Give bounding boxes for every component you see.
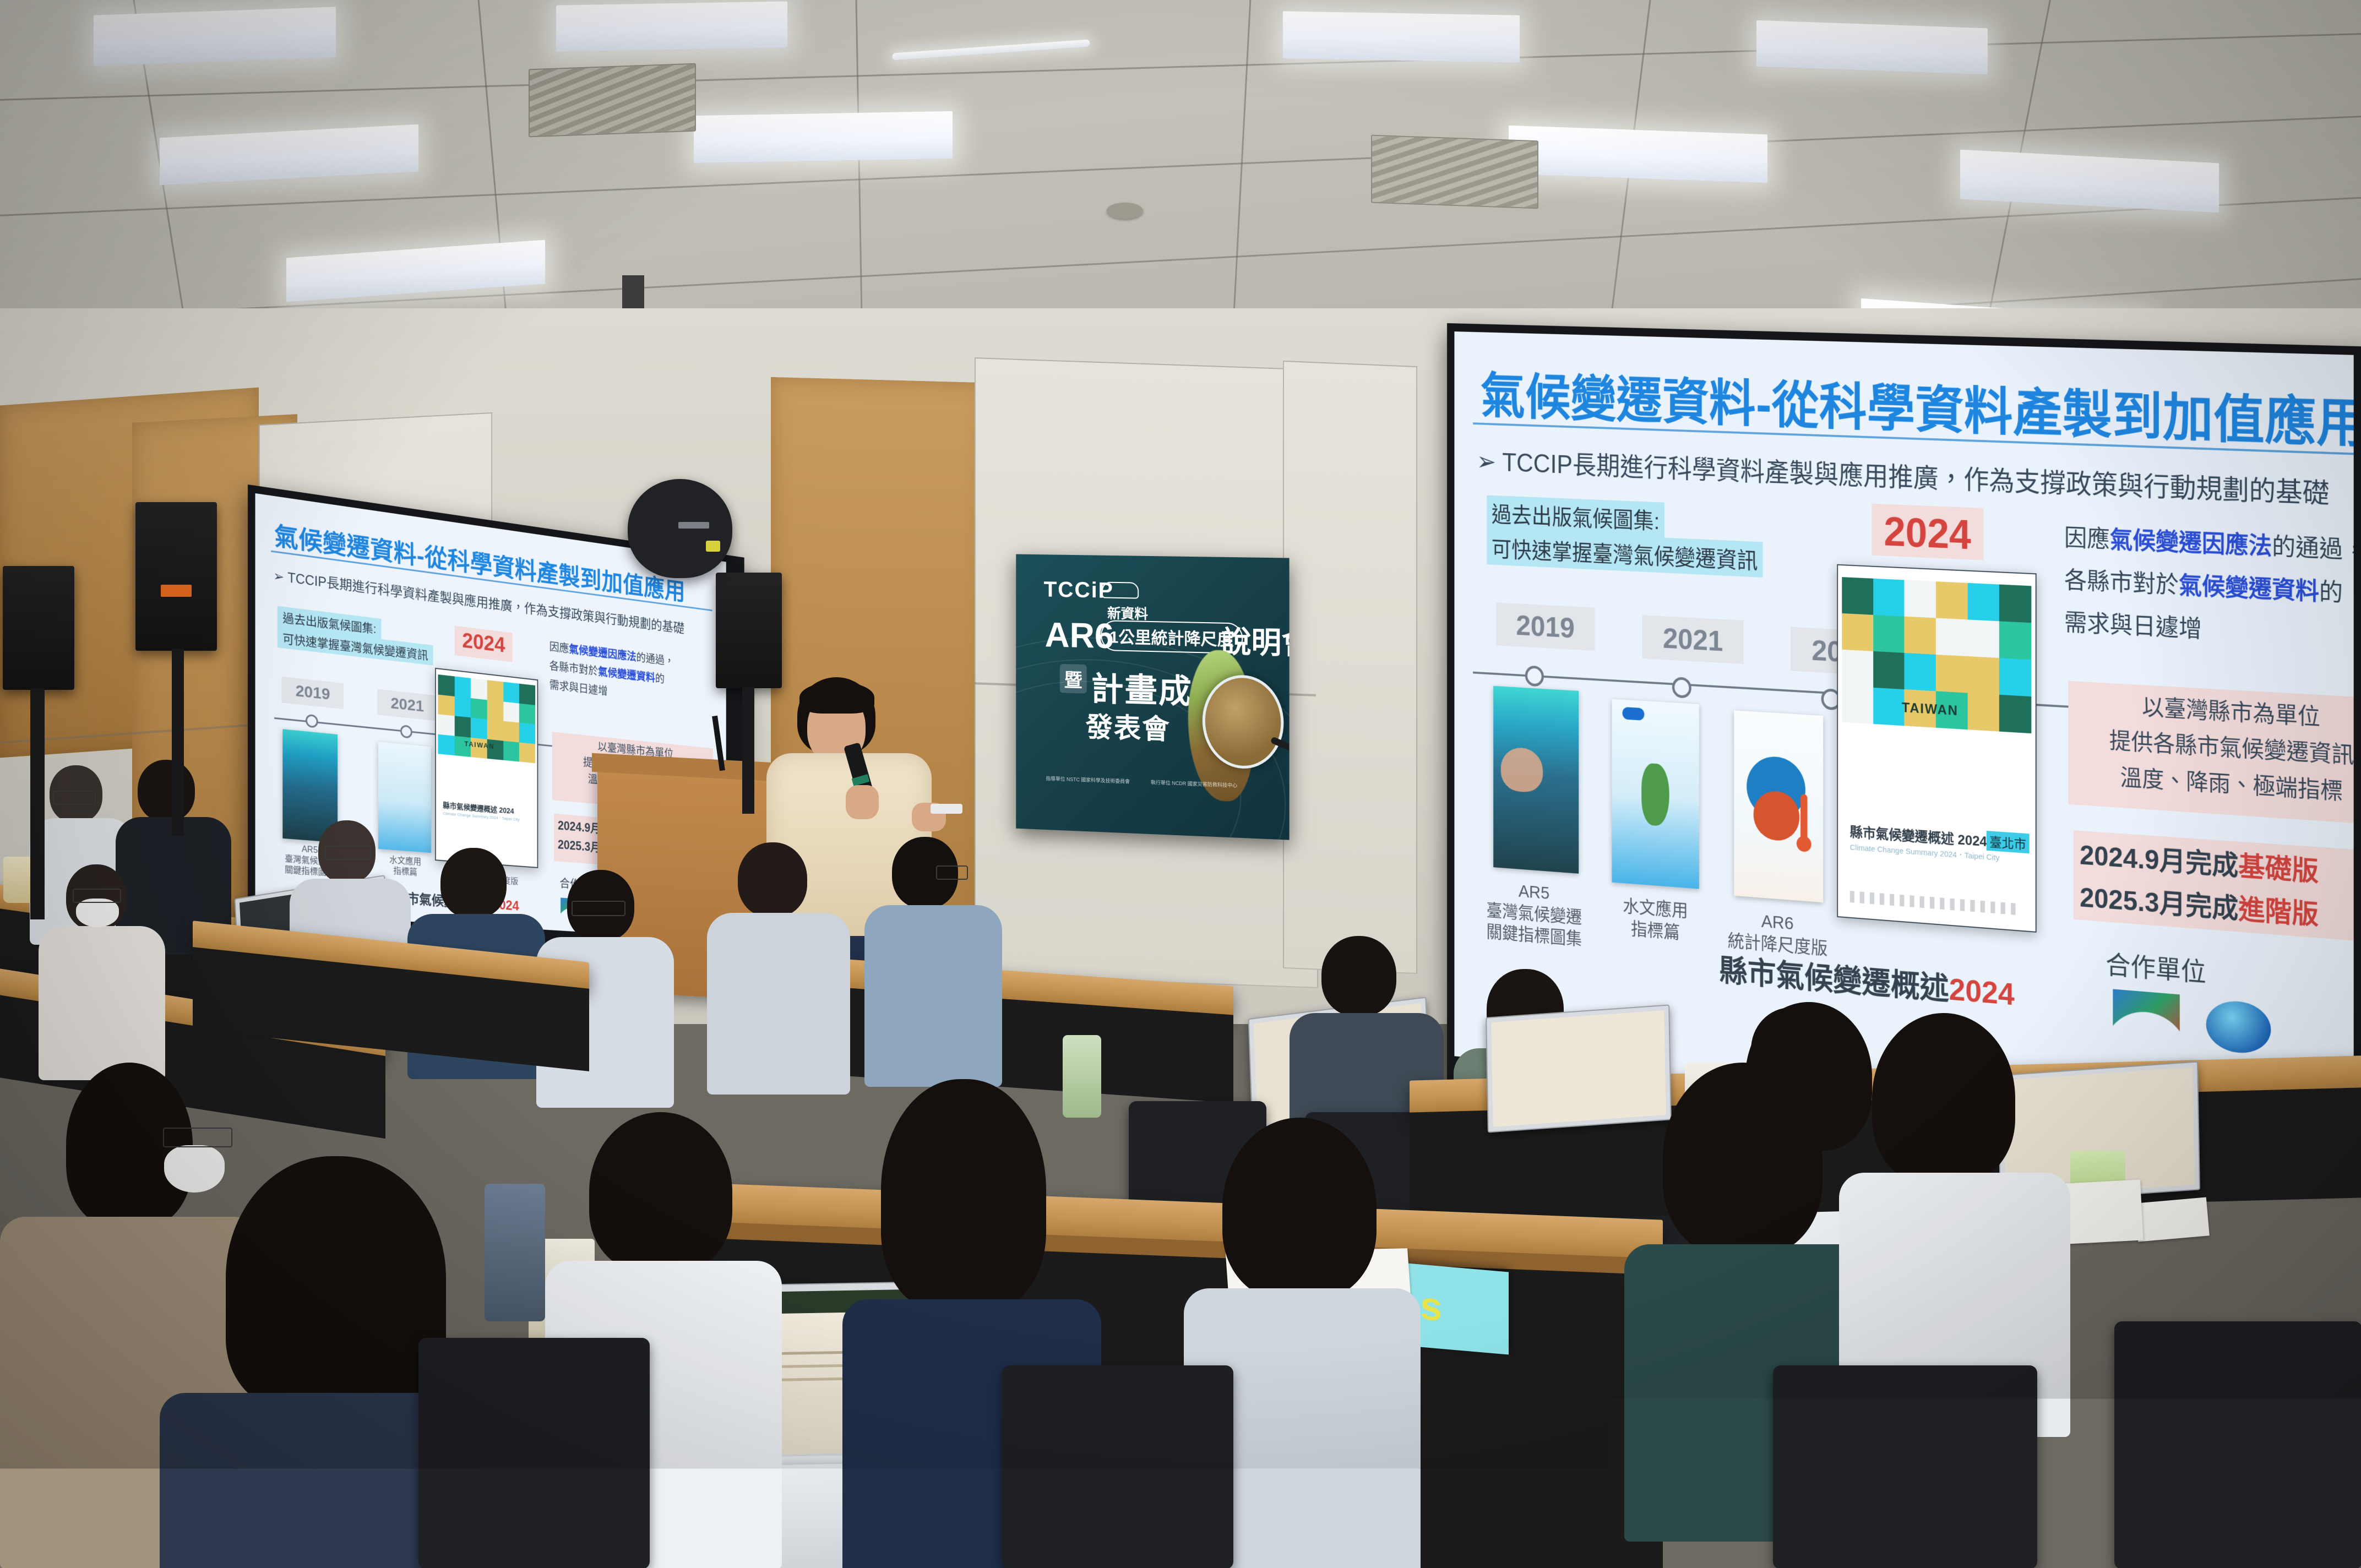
bob-hair: [226, 1156, 446, 1409]
ceiling-panel-light: [1960, 150, 2219, 213]
partners-label: 合作單位: [2106, 943, 2206, 989]
presentation-clicker: [931, 804, 962, 814]
partner-logo-ncdr-icon: [2113, 989, 2179, 1046]
presenter-hand-mic: [846, 785, 879, 819]
event-rollup-banner: TCCiP 新資料 AR6 1公里統計降尺度 說明會 暨 計畫成果 發表會 指導…: [1016, 554, 1289, 840]
fluorescent-tube: [892, 39, 1090, 60]
ceiling-panel-light: [1756, 20, 1988, 75]
main-callout: 過去出版氣候圖集: 可快速掌握臺灣氣候變遷資訊: [1487, 495, 1762, 577]
ceiling-panel-light: [694, 111, 953, 163]
pink-callout-text: 以臺灣縣市為單位 提供各縣市氣候變遷資訊 溫度、降雨、極端指標: [2072, 685, 2354, 813]
booklet-2024: TAIWAN 縣市氣候變遷概述 2024 Climate Change Summ…: [435, 668, 538, 868]
pa-speaker: [135, 502, 217, 651]
ceiling-panel-light: [1283, 11, 1520, 63]
partner-logo-cwa-icon: [2206, 999, 2271, 1055]
cover-caption-ar5: AR5 臺灣氣候變遷 關鍵指標圖集: [1476, 877, 1593, 951]
banner-line3: 發表會: [1086, 705, 1171, 748]
seminar-room-photo: 氣候變遷資料-從科學資料產製到加值應用 ➢ TCCIP長期進行科學資料產製與應用…: [0, 0, 2361, 1568]
tumbler: [485, 1184, 545, 1321]
atlas-cover-ar5: [1493, 686, 1579, 874]
ceiling-panel-light: [286, 240, 545, 302]
ceiling-panel-light: [160, 124, 418, 186]
slide-footer: 縣市氣候變遷概述2024: [1720, 945, 2015, 1014]
water-bottle: [1063, 1035, 1101, 1118]
left-slide-right-text: 因應氣候變遷因應法的通過， 各縣市對於氣候變遷資料的 需求與日遽增: [550, 638, 721, 714]
timeline-year-2021: 2021: [1642, 615, 1744, 664]
milestone-dates: 2024.9月完成基礎版 2025.3月完成進階版: [2080, 834, 2319, 937]
left-callout: 過去出版氣候圖集: 可快速掌握臺灣氣候變遷資訊: [278, 606, 433, 666]
projector-brand-label: [678, 522, 709, 529]
smoke-detector-icon: [1107, 203, 1143, 219]
ceiling-panel-light: [556, 1, 787, 51]
speaker-stand: [30, 688, 45, 919]
cover-caption-water: 水文應用 指標篇: [1596, 894, 1716, 947]
projector-icon: [628, 479, 732, 578]
timeline-year-2019: 2019: [281, 677, 344, 709]
ceiling-air-vent: [529, 63, 696, 138]
timeline-year-2021: 2021: [377, 689, 437, 721]
presenter-fringe: [799, 682, 874, 714]
timeline-year-2019: 2019: [1496, 602, 1595, 651]
ceiling-panel-light: [1509, 126, 1767, 183]
year-badge-2024: 2024: [1872, 507, 1983, 559]
projector-indicator-icon: [706, 541, 720, 552]
eyeglasses-icon: [73, 889, 121, 903]
chair: [418, 1338, 650, 1568]
main-slide-right-text: 因應氣候變遷因應法的通過， 各縣市對於氣候變遷資料的 需求與日遽增: [2064, 517, 2354, 663]
booklet-footer-logos-icon: [1850, 891, 2016, 915]
face-mask: [164, 1145, 225, 1193]
eyeglasses-icon: [325, 846, 371, 860]
ceiling-air-vent: [1371, 135, 1538, 209]
booklet-2024: TAIWAN 縣市氣候變遷概述 2024 臺北市 Climate Change …: [1837, 564, 2036, 933]
wall-panel: [1283, 361, 1417, 974]
ceiling-panel-light: [94, 7, 336, 66]
speaker-stand: [742, 687, 754, 814]
atlas-cover-water: [1612, 699, 1699, 889]
laptop: [1486, 1004, 1672, 1133]
eyeglasses-icon: [572, 901, 625, 916]
pa-speaker: [716, 573, 782, 688]
eyeglasses-icon: [53, 791, 96, 805]
chair: [1773, 1365, 2037, 1568]
chair: [1002, 1365, 1233, 1568]
speaker-stand: [172, 649, 184, 836]
booklet-city-tag: 臺北市: [1987, 831, 2030, 853]
banner-ji-label: 暨: [1060, 664, 1087, 694]
jbl-logo-icon: [161, 585, 192, 597]
atlas-cover-water: [378, 742, 431, 853]
chair: [2114, 1321, 2361, 1568]
tccip-cloud-icon: [1102, 582, 1139, 599]
eyeglasses-icon: [936, 865, 968, 880]
mosaic-taiwan-label: TAIWAN: [1902, 699, 1959, 719]
paper-napkin: [2135, 1197, 2210, 1242]
atlas-cover-ar6: [1734, 710, 1823, 902]
main-slide-title: 氣候變遷資料-從科學資料產製到加值應用: [1481, 356, 2354, 458]
booklet-mosaic: [438, 674, 535, 763]
eyeglasses-icon: [163, 1128, 232, 1147]
pa-speaker: [3, 566, 74, 690]
